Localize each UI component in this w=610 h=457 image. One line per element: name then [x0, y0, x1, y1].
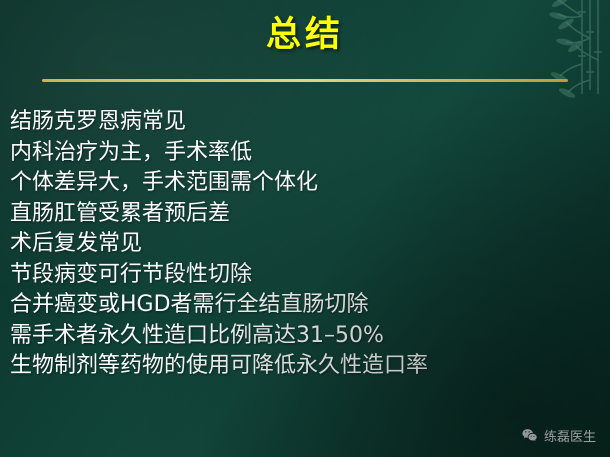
list-item: 内科治疗为主，手术率低: [10, 138, 590, 169]
slide-canvas: 总结 结肠克罗恩病常见 内科治疗为主，手术率低 个体差异大，手术范围需个体化 直…: [0, 0, 610, 457]
list-item: 个体差异大，手术范围需个体化: [10, 168, 590, 199]
bullet-list: 结肠克罗恩病常见 内科治疗为主，手术率低 个体差异大，手术范围需个体化 直肠肛管…: [10, 107, 590, 382]
wechat-icon: [521, 427, 538, 444]
list-item: 生物制剂等药物的使用可降低永久性造口率: [10, 351, 590, 382]
footer-label: 练磊医生: [544, 426, 596, 445]
slide-title: 总结: [0, 16, 610, 55]
list-item: 需手术者永久性造口比例高达31–50%: [10, 321, 590, 352]
list-item: 直肠肛管受累者预后差: [10, 199, 590, 230]
list-item: 合并癌变或HGD者需行全结直肠切除: [10, 290, 590, 321]
footer-watermark: 练磊医生: [521, 426, 596, 445]
title-divider: [42, 79, 568, 82]
list-item: 节段病变可行节段性切除: [10, 260, 590, 291]
list-item: 术后复发常见: [10, 229, 590, 260]
list-item: 结肠克罗恩病常见: [10, 107, 590, 138]
